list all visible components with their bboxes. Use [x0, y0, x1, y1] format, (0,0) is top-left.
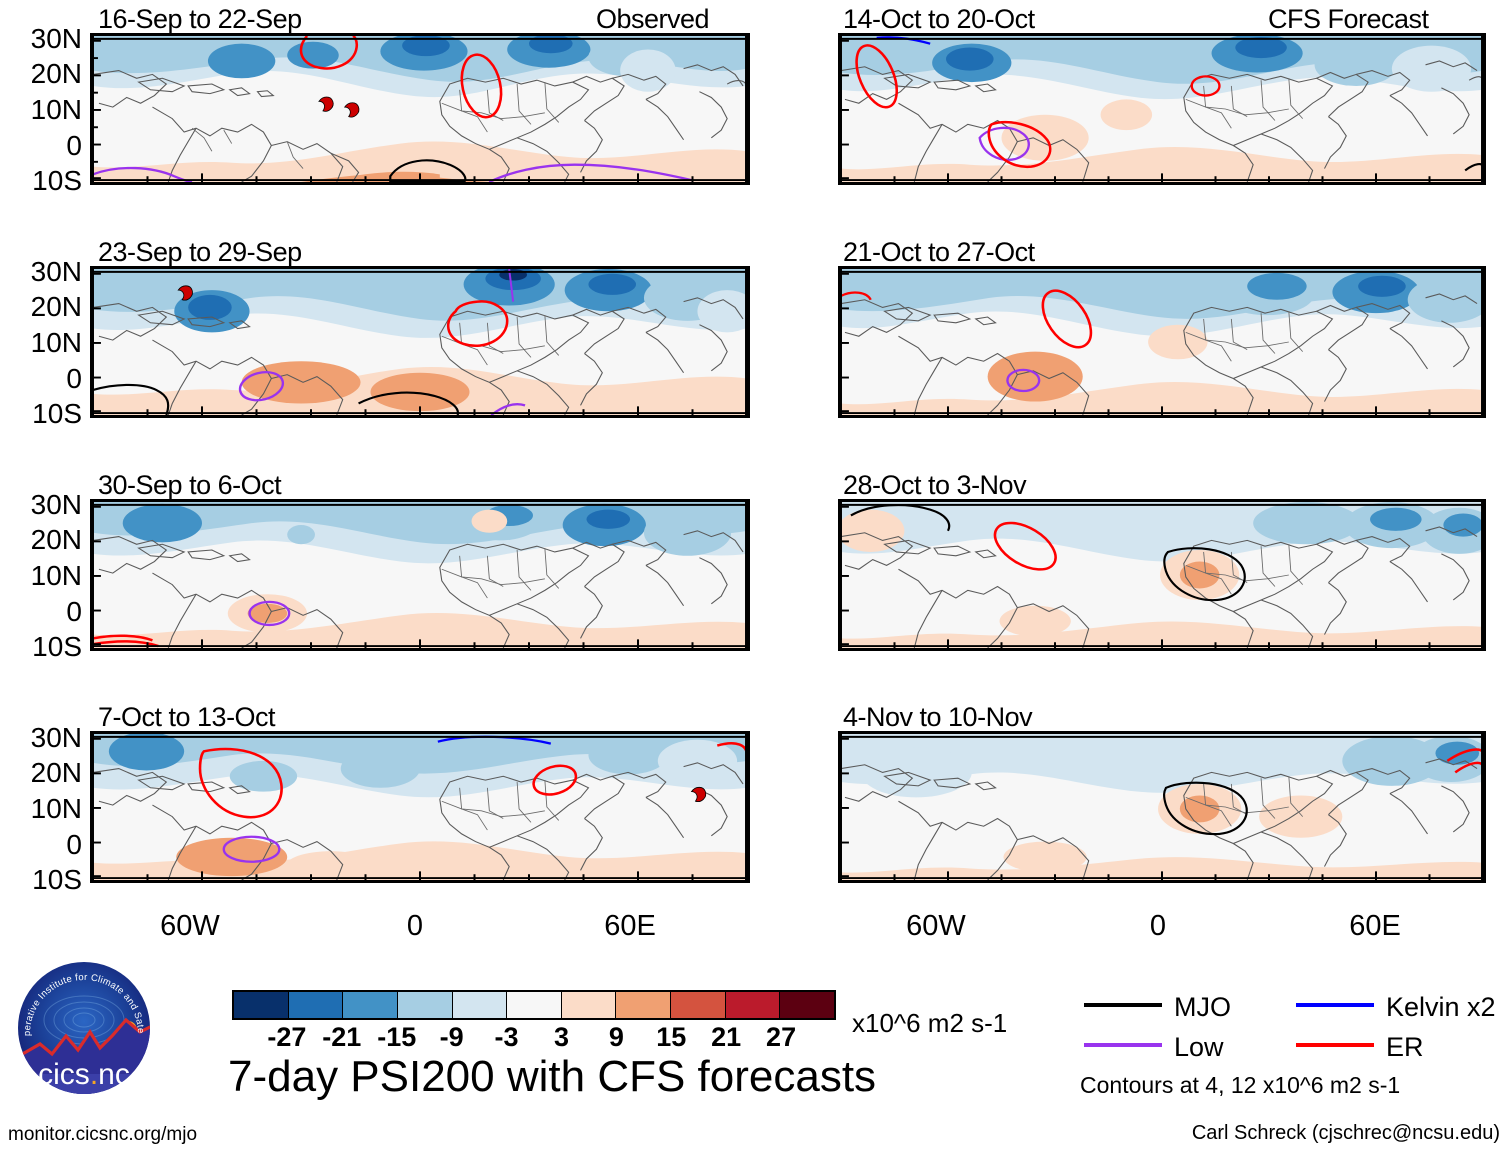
column-header-observed: Observed — [596, 4, 709, 35]
legend-label-er: ER — [1386, 1032, 1424, 1063]
footer-url[interactable]: monitor.cicsnc.org/mjo — [8, 1124, 197, 1146]
legend-label-kelvin: Kelvin x2 — [1386, 992, 1496, 1023]
colorbar-cell — [453, 992, 508, 1018]
map-canvas — [841, 502, 1483, 648]
panel-title-fcst-4: 4-Nov to 10-Nov — [843, 702, 1032, 733]
colorbar-cell — [289, 992, 344, 1018]
colorbar-tick-label: -9 — [440, 1022, 464, 1053]
ytick-20N: 20N — [0, 757, 82, 789]
ytick-10N: 10N — [0, 94, 82, 126]
ytick-30N: 30N — [0, 256, 82, 288]
xtick-0: 0 — [370, 910, 460, 943]
map-canvas — [841, 734, 1483, 880]
colorbar-strip[interactable] — [232, 990, 836, 1020]
panel-title: 16-Sep to 22-Sep — [98, 4, 302, 35]
map-obs-1[interactable] — [90, 33, 750, 185]
map-fcst-2[interactable] — [838, 266, 1486, 418]
colorbar-cell — [780, 992, 834, 1018]
footer-credit: Carl Schreck (cjschrec@ncsu.edu) — [1192, 1122, 1500, 1145]
ytick-10S: 10S — [0, 631, 82, 663]
ytick-10N: 10N — [0, 327, 82, 359]
cics-nc-logo: Cooperative Institute for Climate and Sa… — [14, 958, 154, 1098]
xtick-60E: 60E — [580, 910, 680, 943]
map-fcst-4[interactable] — [838, 731, 1486, 883]
ytick-10S: 10S — [0, 864, 82, 896]
panel-title-obs-4: 7-Oct to 13-Oct — [98, 702, 275, 733]
xtick-0: 0 — [1113, 910, 1203, 943]
colorbar-cell — [234, 992, 289, 1018]
panel-title-obs-3: 30-Sep to 6-Oct — [98, 470, 281, 501]
ytick-20N: 20N — [0, 58, 82, 90]
colorbar-tick-label: -27 — [267, 1022, 306, 1053]
map-obs-4[interactable] — [90, 731, 750, 883]
ytick-10S: 10S — [0, 398, 82, 430]
contour-note: Contours at 4, 12 x10^6 m2 s-1 — [1080, 1072, 1400, 1099]
colorbar-tick-label: 9 — [609, 1022, 624, 1053]
colorbar-tick-label: -15 — [377, 1022, 416, 1053]
ytick-30N: 30N — [0, 23, 82, 55]
ytick-30N: 30N — [0, 722, 82, 754]
ytick-0: 0 — [0, 130, 82, 162]
colorbar-tick-label: 15 — [656, 1022, 686, 1053]
colorbar-cell — [616, 992, 671, 1018]
legend-swatch-mjo — [1084, 1003, 1162, 1007]
ytick-0: 0 — [0, 596, 82, 628]
colorbar-units: x10^6 m2 s-1 — [852, 1008, 1007, 1039]
map-canvas — [93, 734, 747, 880]
ytick-0: 0 — [0, 363, 82, 395]
ytick-20N: 20N — [0, 291, 82, 323]
xtick-60W: 60W — [886, 910, 986, 943]
panel-title-obs-2: 23-Sep to 29-Sep — [98, 237, 302, 268]
logo-wordmark: cics.nc — [38, 1058, 130, 1091]
map-fcst-1[interactable] — [838, 33, 1486, 185]
legend-swatch-er — [1296, 1043, 1374, 1047]
xtick-60E: 60E — [1325, 910, 1425, 943]
ytick-0: 0 — [0, 829, 82, 861]
colorbar-cell — [398, 992, 453, 1018]
colorbar-cell — [343, 992, 398, 1018]
ytick-10N: 10N — [0, 560, 82, 592]
legend-swatch-low — [1084, 1043, 1162, 1047]
map-canvas — [841, 36, 1483, 182]
colorbar-cell — [671, 992, 726, 1018]
ytick-20N: 20N — [0, 524, 82, 556]
logo-svg: Cooperative Institute for Climate and Sa… — [14, 958, 154, 1098]
colorbar-cell — [507, 992, 562, 1018]
map-obs-3[interactable] — [90, 499, 750, 651]
colorbar-cell — [726, 992, 781, 1018]
ytick-30N: 30N — [0, 489, 82, 521]
map-canvas — [93, 269, 747, 415]
legend-label-low: Low — [1174, 1032, 1224, 1063]
colorbar-tick-label: 21 — [711, 1022, 741, 1053]
ytick-10N: 10N — [0, 793, 82, 825]
figure-main-title: 7-day PSI200 with CFS forecasts — [228, 1052, 876, 1102]
legend-swatch-kelvin — [1296, 1003, 1374, 1007]
colorbar-tick-label: 27 — [766, 1022, 796, 1053]
panel-title: 14-Oct to 20-Oct — [843, 4, 1035, 35]
colorbar-cell — [562, 992, 617, 1018]
map-canvas — [93, 502, 747, 648]
colorbar-tick-label: -21 — [322, 1022, 361, 1053]
colorbar-tick-label: -3 — [495, 1022, 519, 1053]
map-obs-2[interactable] — [90, 266, 750, 418]
panel-title-fcst-3: 28-Oct to 3-Nov — [843, 470, 1026, 501]
map-fcst-3[interactable] — [838, 499, 1486, 651]
legend-label-mjo: MJO — [1174, 992, 1231, 1023]
panel-title-fcst-2: 21-Oct to 27-Oct — [843, 237, 1035, 268]
column-header-forecast: CFS Forecast — [1268, 4, 1429, 35]
xtick-60W: 60W — [140, 910, 240, 943]
map-canvas — [93, 36, 747, 182]
map-canvas — [841, 269, 1483, 415]
figure-root: 16-Sep to 22-Sep Observed 14-Oct to 20-O… — [0, 0, 1510, 1159]
colorbar-tick-label: 3 — [554, 1022, 569, 1053]
ytick-10S: 10S — [0, 165, 82, 197]
